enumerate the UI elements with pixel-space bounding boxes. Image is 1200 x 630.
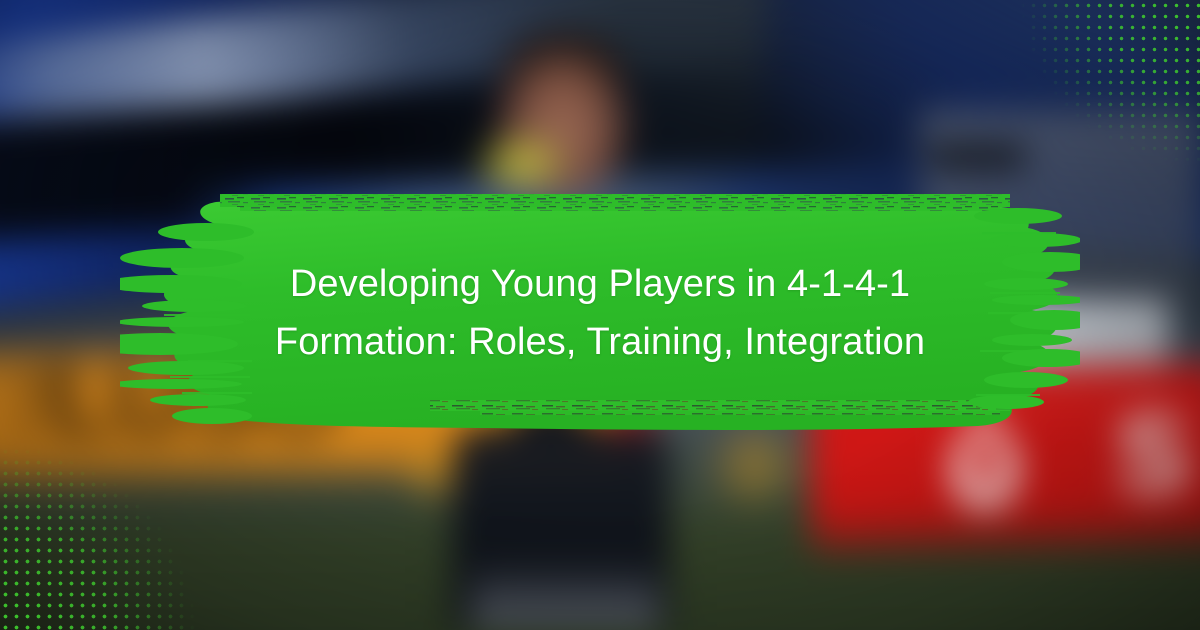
player-kit-highlight <box>478 135 564 193</box>
page-title-line-2: Formation: Roles, Training, Integration <box>150 313 1050 371</box>
page-title: Developing Young Players in 4-1-4-1 Form… <box>150 255 1050 371</box>
foreground-figure-base <box>470 560 660 630</box>
page-title-line-1: Developing Young Players in 4-1-4-1 <box>150 255 1050 313</box>
social-share-card: 7 LUSO S <box>0 0 1200 630</box>
stadium-black-bar <box>930 145 1025 167</box>
santander-board-text: S <box>1117 391 1190 518</box>
